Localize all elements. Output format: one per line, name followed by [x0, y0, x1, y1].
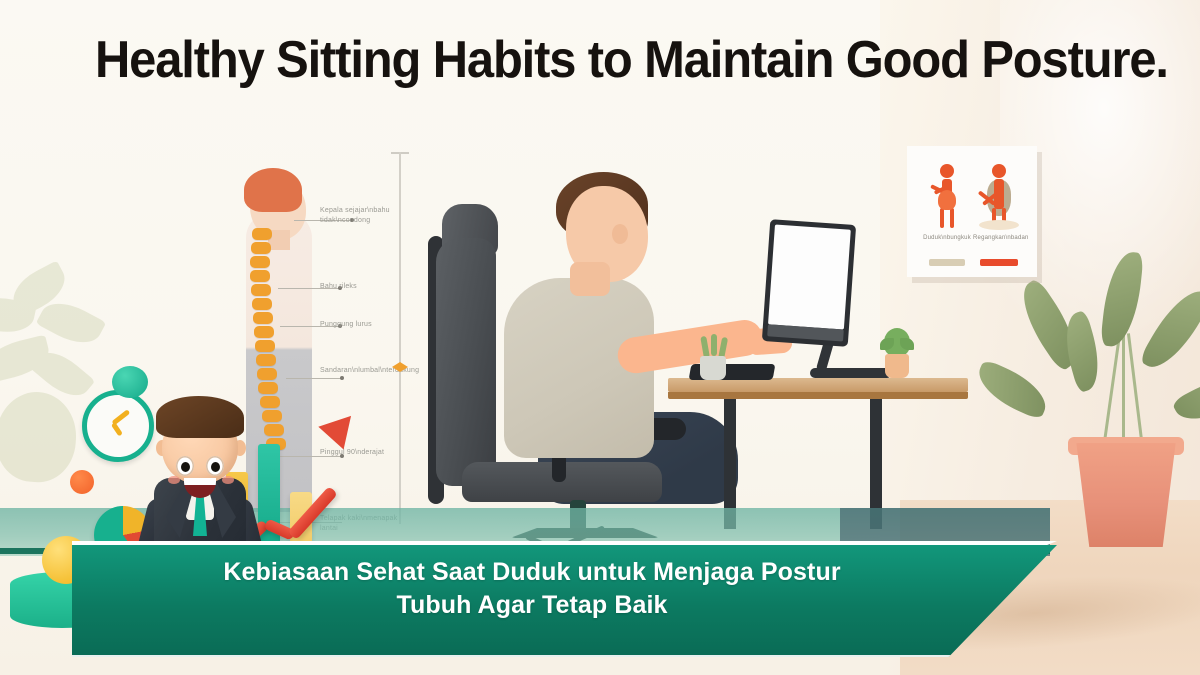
caption-text: Kebiasaan Sehat Saat Duduk untuk Menjaga…: [72, 556, 992, 622]
monitor-screen-surface: [768, 224, 851, 329]
desk-plant-cactus: [698, 334, 728, 380]
desk-top: [668, 378, 968, 392]
plant-pot: [1072, 443, 1180, 547]
caption-line-1: Kebiasaan Sehat Saat Duduk untuk Menjaga…: [72, 556, 992, 589]
poster-caption-2: Regangkan\nbadan: [973, 234, 1023, 243]
poster-bar-2: [980, 259, 1018, 266]
orange-dot-icon: [70, 470, 94, 494]
floor-plant: [1030, 255, 1200, 555]
page-title: Healthy Sitting Habits to Maintain Good …: [95, 34, 1063, 86]
monitor[interactable]: [762, 219, 856, 347]
desk-scene: [418, 150, 938, 550]
banner-top-rule: [72, 541, 1057, 545]
poster-bar-1: [929, 259, 965, 266]
wall-poster: Duduk\nbungkuk Regangkan\nbadan: [907, 146, 1037, 277]
callout-back: Punggung lurus: [320, 320, 398, 330]
height-ruler: [399, 152, 401, 524]
mascot-hair: [156, 396, 244, 438]
caption-line-2: Tubuh Agar Tetap Baik: [72, 589, 992, 622]
poster-figure-slouch: [925, 164, 969, 228]
callout-lumbar: Sandaran\nlumbal\nterdukung: [320, 366, 400, 376]
person-ear: [612, 224, 628, 244]
poster-figure-stretch: [977, 164, 1021, 228]
infographic-canvas: Healthy Sitting Habits to Maintain Good …: [0, 0, 1200, 675]
callout-shoulder: Bahu rileks: [320, 282, 398, 292]
desk-edge: [668, 392, 968, 399]
person-neck: [570, 262, 610, 296]
desk-plant-succulent: [880, 328, 914, 380]
chair-backrest: [436, 238, 496, 486]
callout-neck: Kepala sejajar\nbahu tidak\ncondong: [320, 206, 398, 226]
mascot-eye-right: [206, 456, 224, 476]
mascot-eye-left: [176, 456, 194, 476]
poster-caption-1: Duduk\nbungkuk: [922, 234, 972, 243]
anatomy-hair: [244, 168, 302, 212]
